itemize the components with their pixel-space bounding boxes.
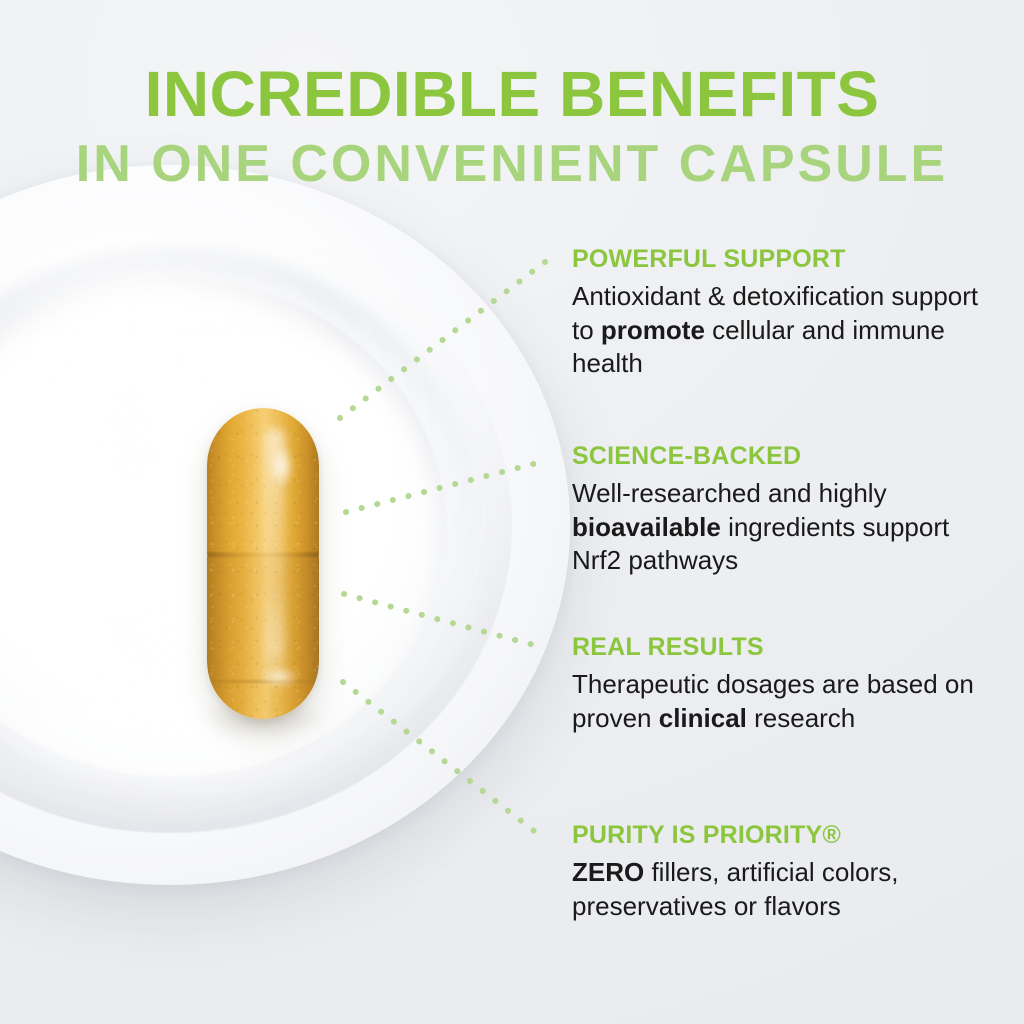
benefits-infographic: INCREDIBLE BENEFITS IN ONE CONVENIENT CA…	[0, 0, 1024, 1024]
callout-powerful-support: POWERFUL SUPPORT Antioxidant & detoxific…	[572, 246, 992, 380]
capsule-highlight-top	[269, 444, 295, 488]
callout-science-backed: SCIENCE-BACKED Well-researched and highl…	[572, 443, 992, 577]
callout-body: Therapeutic dosages are based on proven …	[572, 668, 992, 735]
headline-line-2: IN ONE CONVENIENT CAPSULE	[0, 138, 1024, 190]
callout-title: PURITY IS PRIORITY®	[572, 822, 992, 848]
capsule-highlight-bottom	[259, 666, 299, 688]
callout-purity-is-priority: PURITY IS PRIORITY® ZERO fillers, artifi…	[572, 822, 992, 923]
callout-real-results: REAL RESULTS Therapeutic dosages are bas…	[572, 634, 992, 735]
headline-line-1: INCREDIBLE BENEFITS	[0, 62, 1024, 126]
headline-block: INCREDIBLE BENEFITS IN ONE CONVENIENT CA…	[0, 62, 1024, 190]
callout-body: ZERO fillers, artificial colors, preserv…	[572, 856, 992, 923]
capsule-image	[207, 408, 319, 719]
callout-title: REAL RESULTS	[572, 634, 992, 660]
callout-body: Well-researched and highly bioavailable …	[572, 477, 992, 577]
callout-body: Antioxidant & detoxification support to …	[572, 280, 992, 380]
callout-title: SCIENCE-BACKED	[572, 443, 992, 469]
callout-title: POWERFUL SUPPORT	[572, 246, 992, 272]
